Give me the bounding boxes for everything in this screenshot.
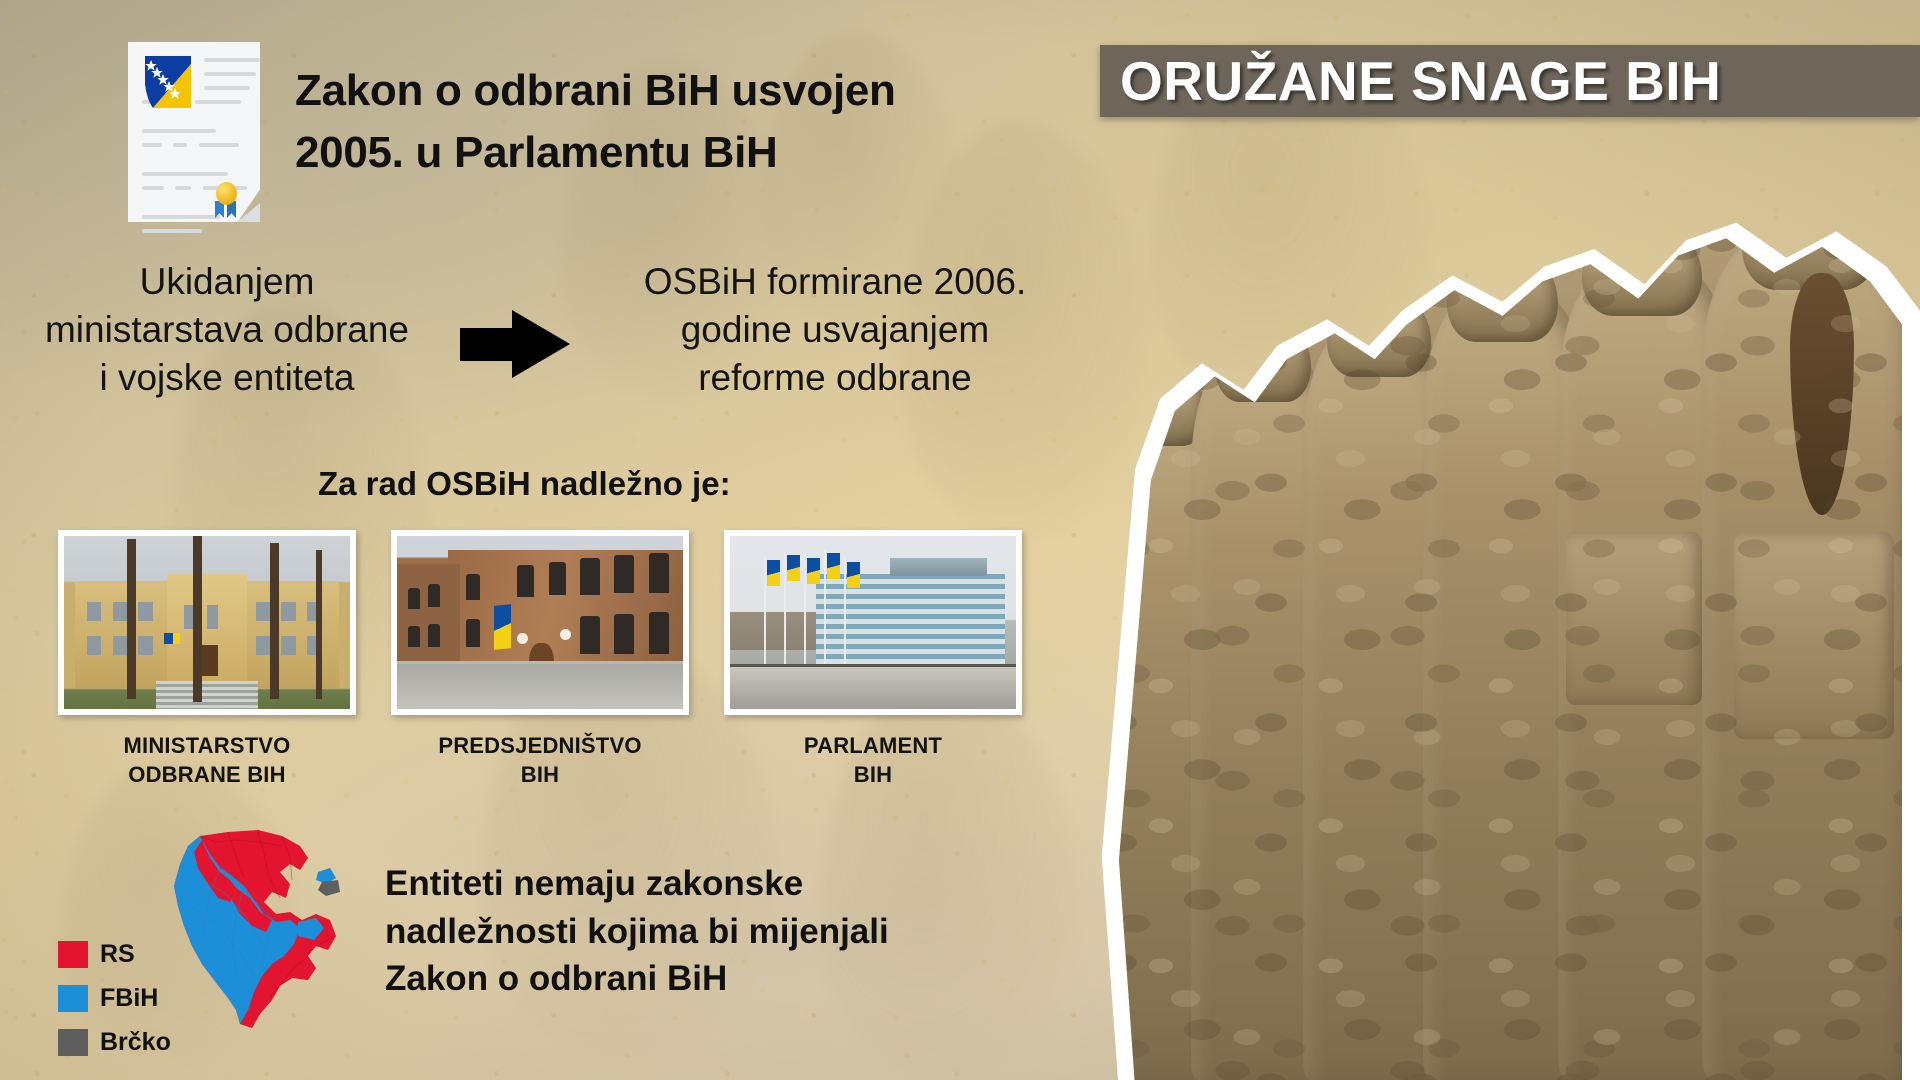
flow-right-line-1: OSBiH formirane 2006. bbox=[610, 258, 1060, 306]
legend-label-fbih: FBiH bbox=[100, 984, 158, 1013]
bottom-line-2: nadležnosti kojima bi mijenjali bbox=[385, 908, 1005, 956]
legend-item-fbih: FBiH bbox=[58, 984, 171, 1013]
caption-line-1: PREDSJEDNIŠTVO bbox=[391, 732, 689, 761]
institution-card-parliament: PARLAMENT BIH bbox=[724, 530, 1022, 789]
bih-coat-of-arms-icon bbox=[145, 56, 191, 114]
flow-right-line-2: godine usvajanjem bbox=[610, 306, 1060, 354]
institutions-cards: MINISTARSTVO ODBRANE BIH bbox=[58, 530, 1022, 789]
headline-line-2: 2005. u Parlamentu BiH bbox=[295, 122, 995, 184]
legend-item-brcko: Brčko bbox=[58, 1028, 171, 1057]
title-banner: ORUŽANE SNAGE BIH bbox=[1100, 45, 1920, 117]
headline-line-1: Zakon o odbrani BiH usvojen bbox=[295, 60, 995, 122]
institution-caption-presidency: PREDSJEDNIŠTVO BIH bbox=[391, 732, 689, 789]
ministry-of-defence-building-photo bbox=[58, 530, 356, 715]
legend-swatch-fbih bbox=[58, 985, 88, 1012]
flow-right-text: OSBiH formirane 2006. godine usvajanjem … bbox=[610, 258, 1060, 402]
legend-item-rs: RS bbox=[58, 940, 171, 969]
presidency-building-photo bbox=[391, 530, 689, 715]
institution-caption-parliament: PARLAMENT BIH bbox=[724, 732, 1022, 789]
document-with-seal-icon bbox=[128, 42, 260, 222]
institution-caption-ministry: MINISTARSTVO ODBRANE BIH bbox=[58, 732, 356, 789]
seal-ribbon-icon bbox=[213, 182, 239, 212]
armed-forces-soldiers-in-formation-photo bbox=[1085, 205, 1920, 1080]
bottom-statement: Entiteti nemaju zakonske nadležnosti koj… bbox=[385, 860, 1005, 1003]
legend-label-brcko: Brčko bbox=[100, 1028, 171, 1057]
page-title: ORUŽANE SNAGE BIH bbox=[1120, 49, 1721, 113]
right-arrow-icon bbox=[460, 310, 570, 378]
flow-left-text: Ukidanjem ministarstava odbrane i vojske… bbox=[12, 258, 442, 402]
flow-right-line-3: reforme odbrane bbox=[610, 354, 1060, 402]
flow-left-line-1: Ukidanjem bbox=[12, 258, 442, 306]
flow-left-line-3: i vojske entiteta bbox=[12, 354, 442, 402]
caption-line-1: PARLAMENT bbox=[724, 732, 1022, 761]
bottom-line-3: Zakon o odbrani BiH bbox=[385, 955, 1005, 1003]
legend-label-rs: RS bbox=[100, 940, 135, 969]
flow-left-line-2: ministarstava odbrane bbox=[12, 306, 442, 354]
institution-card-ministry: MINISTARSTVO ODBRANE BIH bbox=[58, 530, 356, 789]
infographic-canvas: ORUŽANE SNAGE BIH bbox=[0, 0, 1920, 1080]
legend-swatch-brcko bbox=[58, 1029, 88, 1056]
map-legend: RS FBiH Brčko bbox=[58, 940, 171, 1072]
headline: Zakon o odbrani BiH usvojen 2005. u Parl… bbox=[295, 60, 995, 185]
caption-line-2: ODBRANE BIH bbox=[58, 761, 356, 790]
legend-swatch-rs bbox=[58, 941, 88, 968]
caption-line-1: MINISTARSTVO bbox=[58, 732, 356, 761]
bottom-line-1: Entiteti nemaju zakonske bbox=[385, 860, 1005, 908]
bosnia-herzegovina-entities-map bbox=[140, 828, 370, 1043]
institution-card-presidency: PREDSJEDNIŠTVO BIH bbox=[391, 530, 689, 789]
caption-line-2: BIH bbox=[391, 761, 689, 790]
parliament-building-photo bbox=[724, 530, 1022, 715]
caption-line-2: BIH bbox=[724, 761, 1022, 790]
institutions-heading: Za rad OSBiH nadležno je: bbox=[318, 465, 731, 503]
